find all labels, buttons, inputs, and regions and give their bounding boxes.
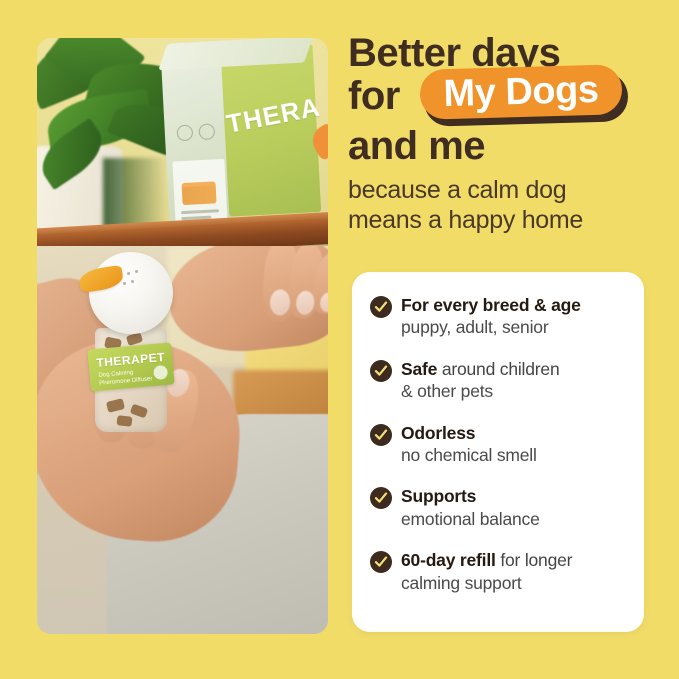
benefit-sub: no chemical smell [401,444,537,466]
check-circle-icon [370,551,392,573]
benefit-bold: 60-day refill [401,550,496,570]
product-package-box: THERA [161,44,320,224]
benefit-rest: around children [437,359,559,379]
benefit-bold: Supports [401,486,476,506]
benefit-item: Odorless no chemical smell [370,422,626,467]
my-dogs-badge: My Dogs [420,67,628,123]
benefit-item: Supports emotional balance [370,485,626,530]
benefit-text: For every breed & age puppy, adult, seni… [401,294,581,339]
check-circle-icon [370,296,392,318]
photo-lower-scene: THERAPET Dog Calming Pheromone Diffuser [37,246,328,634]
benefit-text: Safe around children & other pets [401,358,559,403]
package-seal-icon [198,123,215,140]
package-seal-icon [176,124,193,141]
check-circle-icon [370,424,392,446]
badge-label: My Dogs [443,71,599,113]
headline-line-2: for My Dogs [348,73,648,119]
benefit-sub: puppy, adult, senior [401,316,581,338]
benefit-rest: for longer [496,550,573,570]
benefit-bold: Safe [401,359,437,379]
check-circle-icon [370,360,392,382]
benefit-text: Supports emotional balance [401,485,540,530]
subheadline-line-1: because a calm dog [348,176,566,204]
headline-block: Better days for My Dogs and me because a… [348,34,648,235]
duck-diffuser-cap [89,252,173,334]
check-circle-icon [370,487,392,509]
dog-calming-diffuser-product: THERAPET Dog Calming Pheromone Diffuser [85,282,171,442]
plant-stems [103,158,167,228]
infographic-root: THERA [0,0,679,679]
headline-line-2-prefix: for [348,77,400,116]
benefit-item: Safe around children & other pets [370,358,626,403]
benefit-bold: For every breed & age [401,295,581,315]
product-lifestyle-photo: THERA [37,38,328,634]
subheadline-line-2: means a happy home [348,206,583,234]
benefit-item: For every breed & age puppy, adult, seni… [370,294,626,339]
benefit-sub: emotional balance [401,508,540,530]
badge-pill: My Dogs [419,64,622,120]
headline-line-3: and me [348,127,648,166]
benefit-bold: Odorless [401,423,475,443]
benefit-text: 60-day refill for longer calming support [401,549,572,594]
jar-label: THERAPET Dog Calming Pheromone Diffuser [87,342,174,391]
benefits-card: For every breed & age puppy, adult, seni… [352,272,644,632]
benefit-text: Odorless no chemical smell [401,422,537,467]
page-title: Better days for My Dogs and me [348,34,648,166]
benefit-sub: & other pets [401,380,559,402]
subheadline: because a calm dog means a happy home [348,176,648,235]
duck-beak [78,265,125,294]
benefit-item: 60-day refill for longer calming support [370,549,626,594]
benefit-sub: calming support [401,572,572,594]
dog-illustration [325,112,328,183]
package-product-thumb [181,181,216,205]
jar-label-badge [153,365,168,380]
